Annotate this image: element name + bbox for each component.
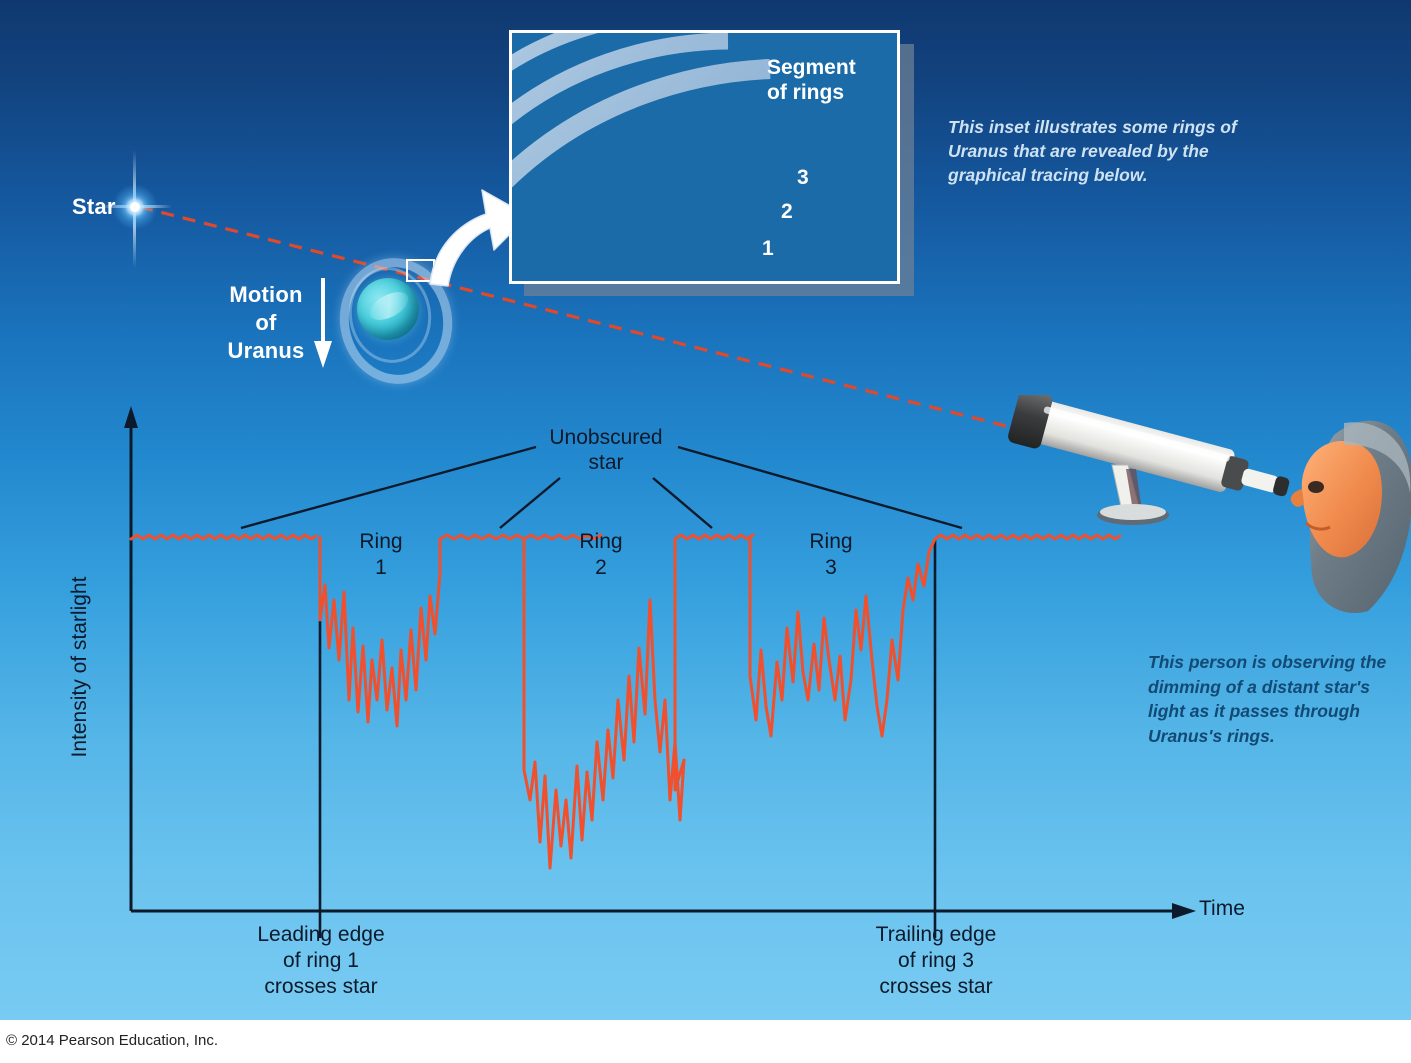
ring-3-label: Ring 3: [771, 529, 891, 581]
ring-1-label: Ring 1: [321, 529, 441, 581]
space-scene: Star Motion of Uranus: [0, 0, 1411, 1020]
ring-1-number: 1: [321, 555, 441, 581]
ring-2-name: Ring: [541, 529, 661, 555]
trailing-edge-line2: of ring 3: [786, 948, 1086, 974]
ring-2-number: 2: [541, 555, 661, 581]
edge-marker-lines: [320, 539, 935, 938]
unobscured-line2: star: [516, 450, 696, 475]
x-axis-label: Time: [1199, 897, 1245, 921]
leading-edge-line2: of ring 1: [171, 948, 471, 974]
trailing-edge-line1: Trailing edge: [786, 922, 1086, 948]
x-axis-arrowhead: [1172, 903, 1196, 919]
ring-2-label: Ring 2: [541, 529, 661, 581]
unobscured-line1: Unobscured: [516, 425, 696, 450]
chart-axes: [131, 423, 1182, 911]
intensity-trace: [131, 535, 1120, 868]
leading-edge-line1: Leading edge: [171, 922, 471, 948]
trailing-edge-caption: Trailing edge of ring 3 crosses star: [786, 922, 1086, 1000]
light-curve-chart: [0, 0, 1411, 1020]
unobscured-star-label: Unobscured star: [516, 425, 696, 475]
ring-3-name: Ring: [771, 529, 891, 555]
ring-3-number: 3: [771, 555, 891, 581]
copyright-notice: © 2014 Pearson Education, Inc.: [6, 1032, 218, 1049]
y-axis-arrowhead: [124, 406, 138, 428]
trailing-edge-line3: crosses star: [786, 974, 1086, 1000]
ring-1-name: Ring: [321, 529, 441, 555]
leading-edge-line3: crosses star: [171, 974, 471, 1000]
y-axis-label: Intensity of starlight: [68, 547, 92, 787]
leading-edge-caption: Leading edge of ring 1 crosses star: [171, 922, 471, 1000]
figure-root: Star Motion of Uranus: [0, 0, 1411, 1063]
